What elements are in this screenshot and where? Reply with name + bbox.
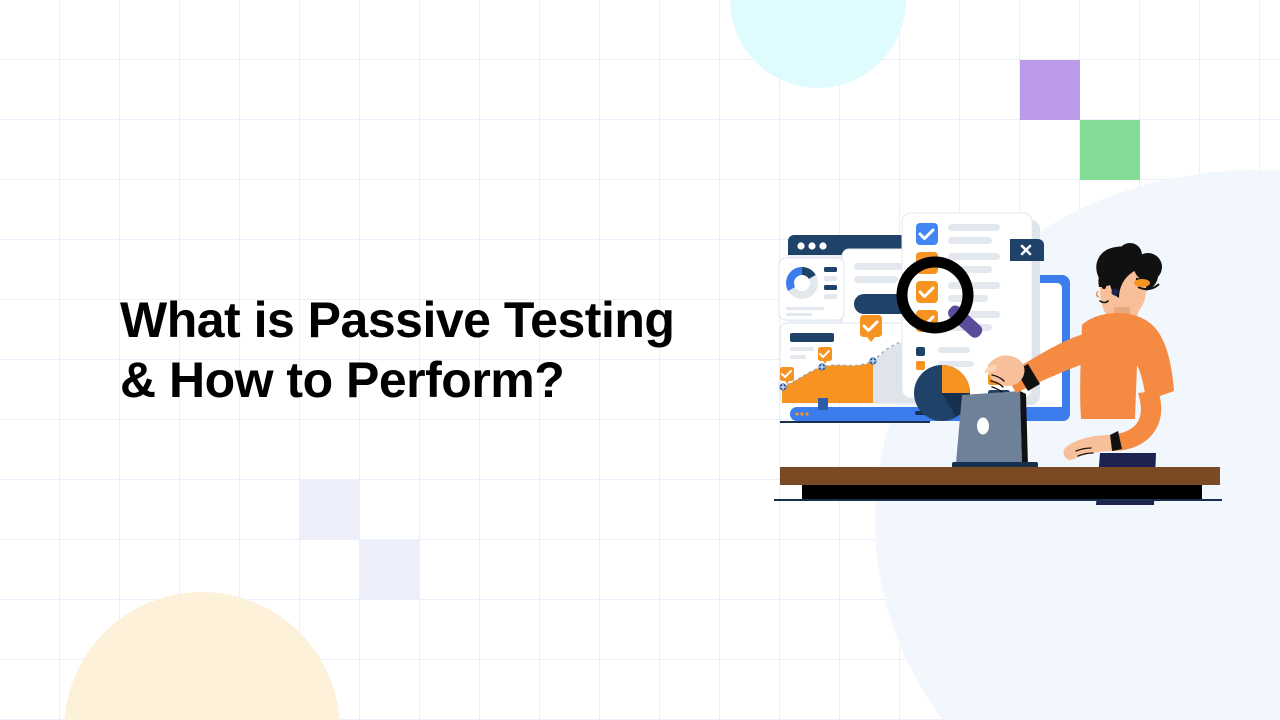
purple-square — [1020, 60, 1080, 120]
desk — [774, 467, 1222, 501]
page-title: What is Passive Testing & How to Perform… — [120, 290, 674, 410]
lavender-square — [300, 480, 360, 540]
page-canvas: What is Passive Testing & How to Perform… — [0, 0, 1280, 720]
window-dot — [808, 242, 815, 249]
page-title-line-2: & How to Perform? — [120, 350, 674, 410]
window-dot — [797, 242, 804, 249]
lavender-square — [360, 540, 420, 600]
chart-node — [779, 383, 786, 390]
chart-node — [818, 363, 825, 370]
area-chart-card — [779, 315, 920, 403]
page-title-line-1: What is Passive Testing — [120, 290, 674, 350]
close-tab-button — [1010, 239, 1044, 261]
green-square — [1080, 120, 1140, 180]
window-dot — [819, 242, 826, 249]
chart-node — [869, 357, 876, 364]
donut-chart — [786, 267, 818, 299]
passive-testing-illustration — [770, 195, 1230, 505]
donut-chart-card — [779, 258, 844, 320]
